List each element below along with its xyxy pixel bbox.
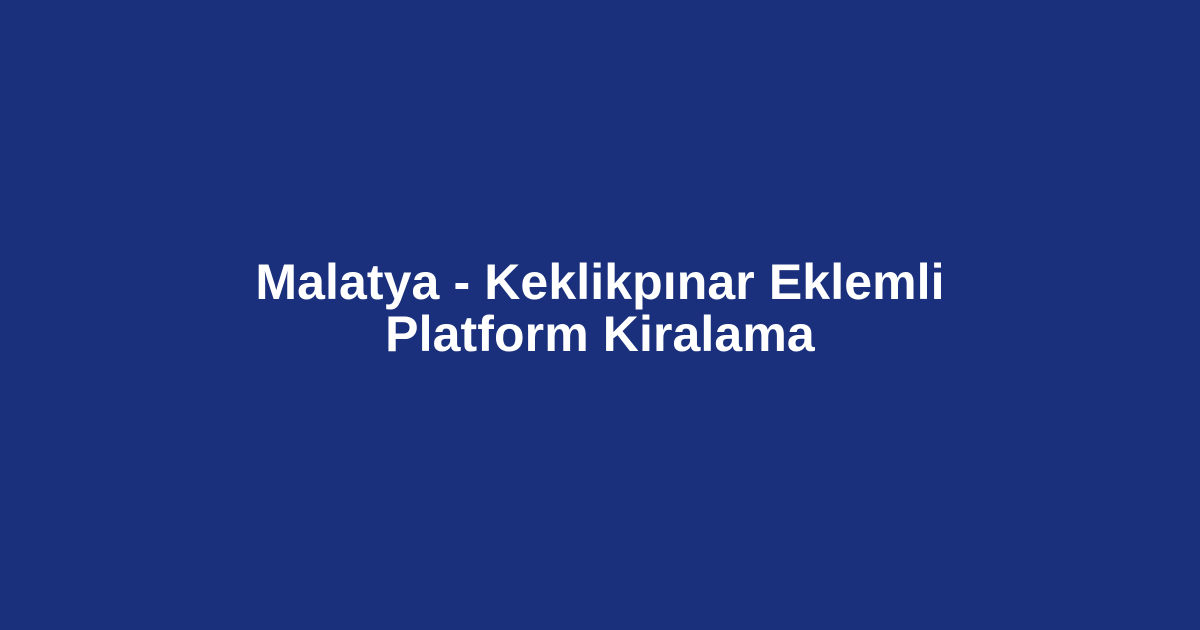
page-title: Malatya - Keklikpınar Eklemli Platform K…	[200, 256, 1000, 360]
title-block: Malatya - Keklikpınar Eklemli Platform K…	[200, 256, 1000, 360]
social-preview-card: Malatya - Keklikpınar Eklemli Platform K…	[0, 0, 1200, 630]
